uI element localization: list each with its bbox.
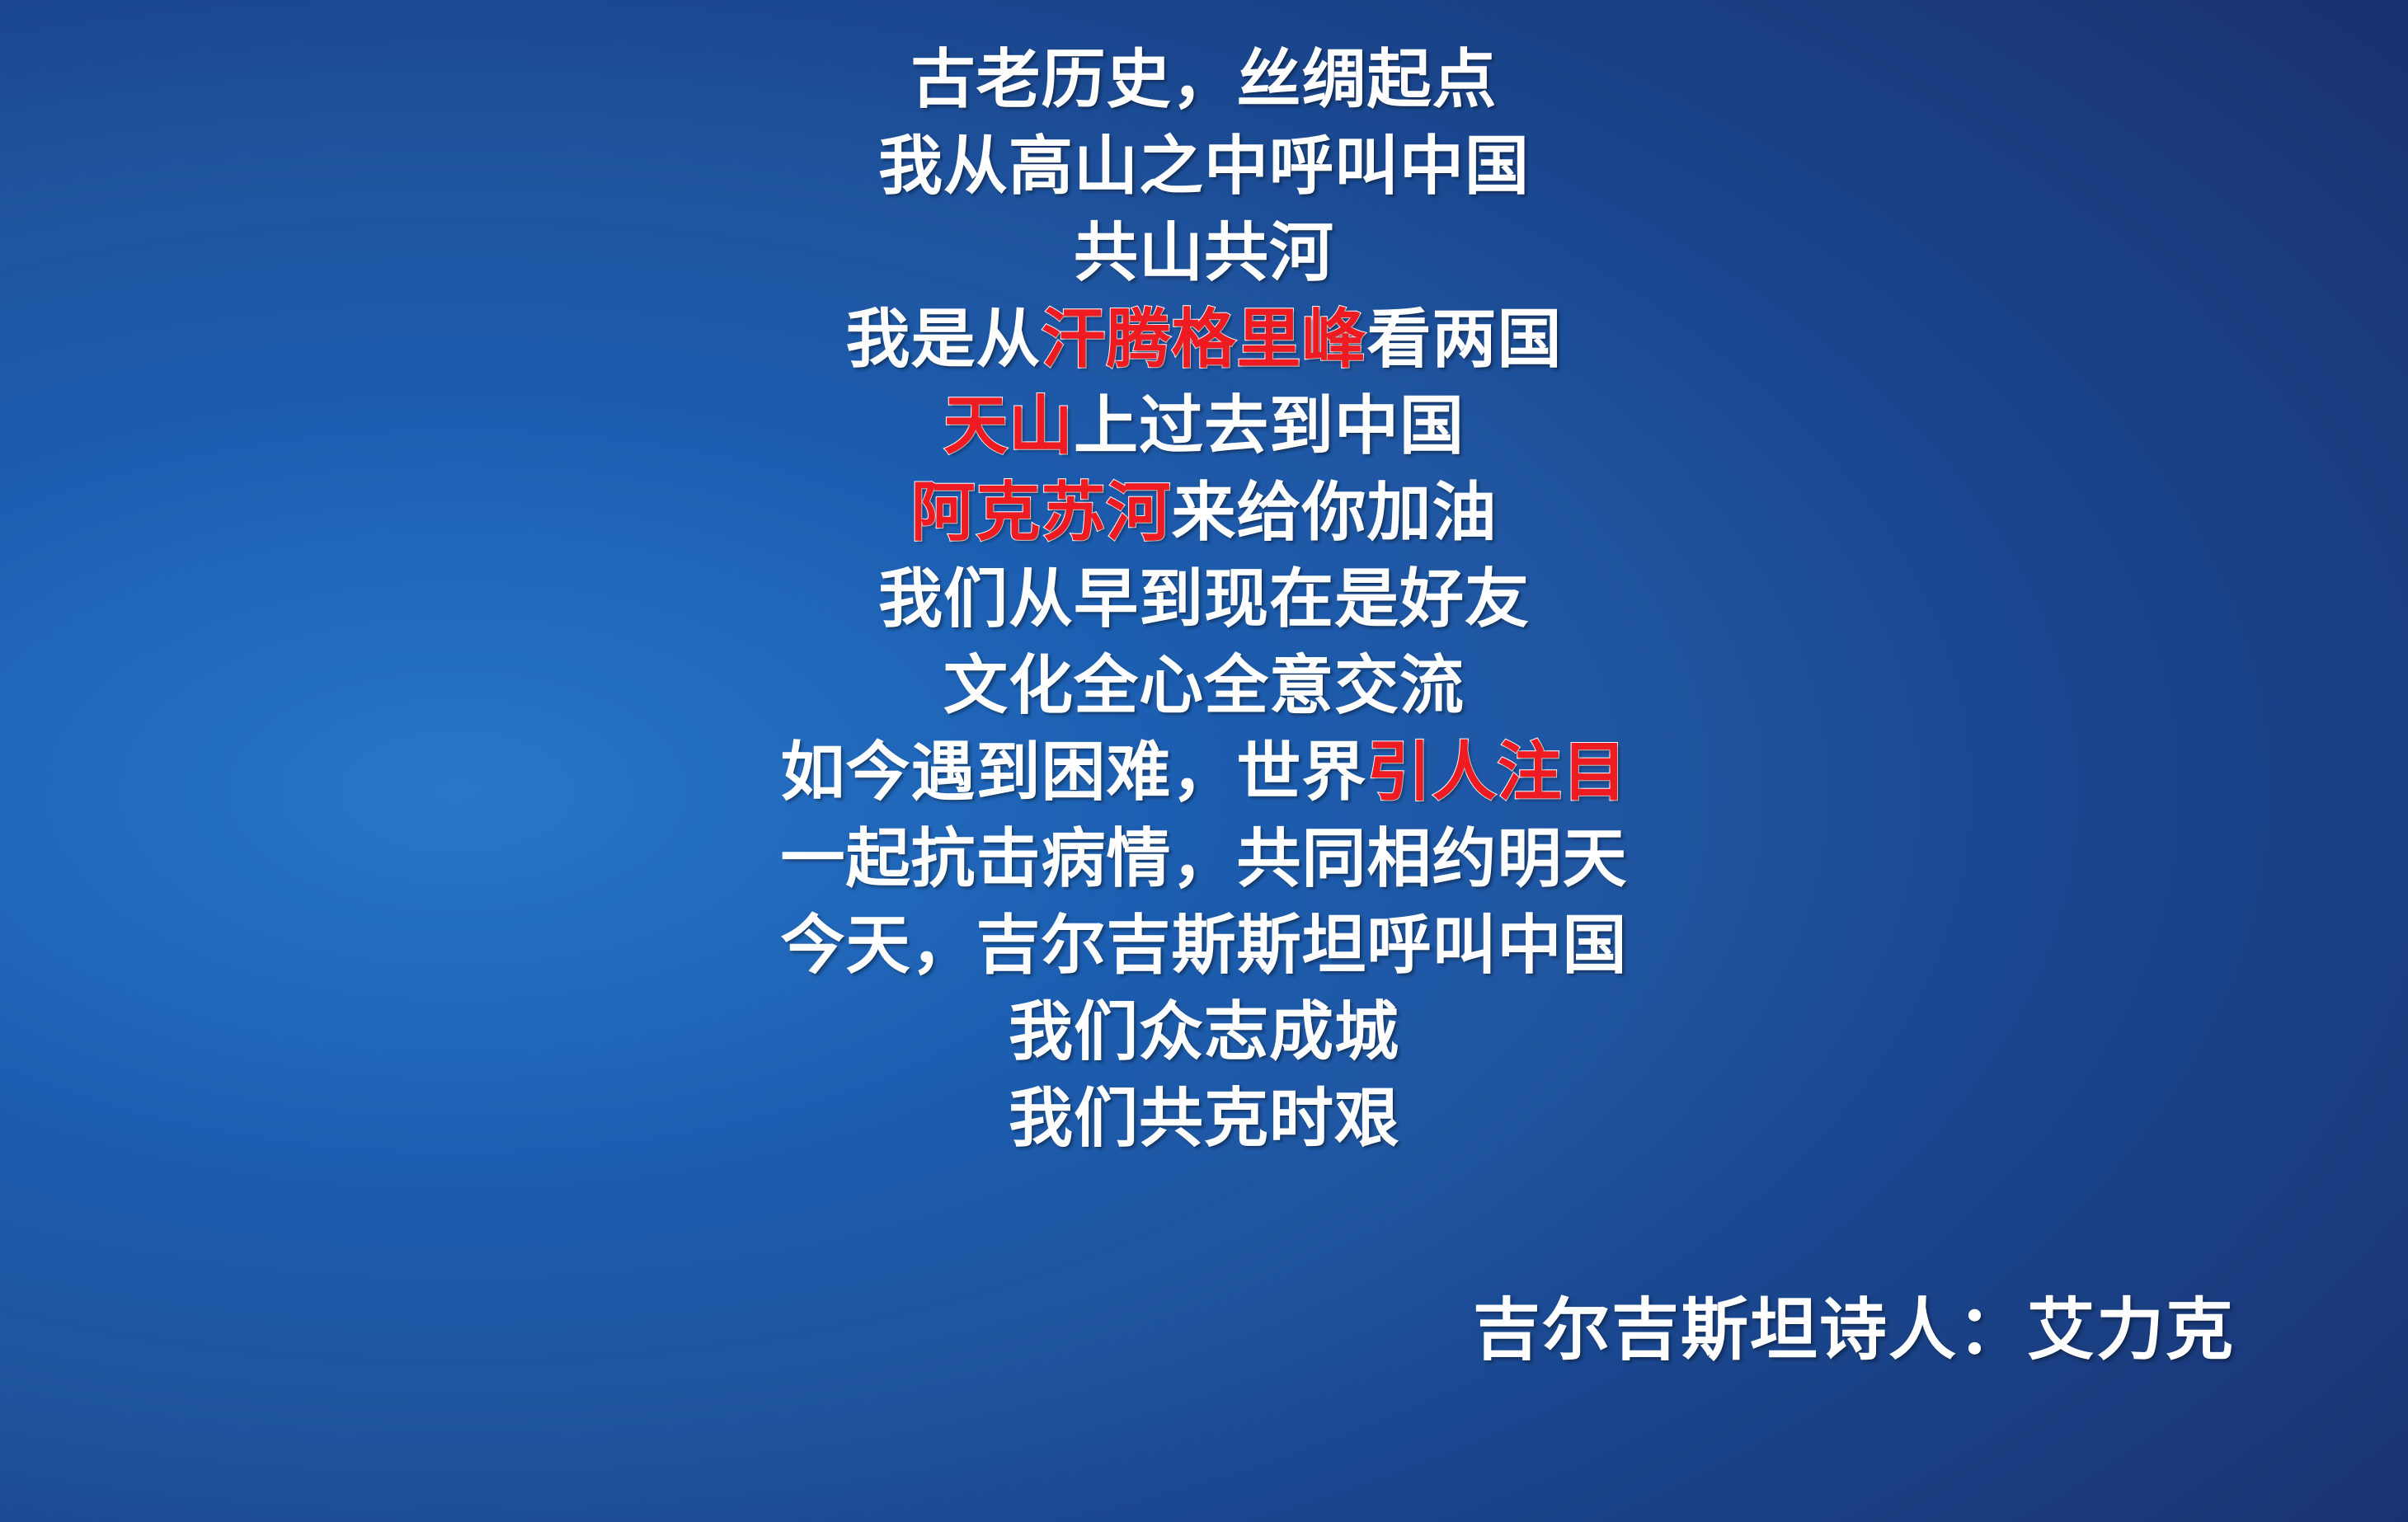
poem-text-run: 我从高山之中呼叫中国 [878,129,1530,204]
poem-line: 我从高山之中呼叫中国 [0,123,2408,209]
poem-highlight-term: 天山 [943,388,1074,463]
poem-text-run: 看两国 [1367,302,1563,377]
poem-highlight-term: 阿克苏河 [910,475,1171,550]
poem-text-run: 来给你加油 [1172,475,1498,550]
poem-text-run: 文化全心全意交流 [943,648,1465,723]
poem-text-run: 一起抗击病情，共同相约明天 [780,821,1627,896]
poem-text-run: 我们共克时艰 [1009,1081,1399,1156]
poem-body: 古老历史，丝绸起点我从高山之中呼叫中国共山共河我是从汗腾格里峰看两国天山上过去到… [0,36,2408,1162]
poem-text-run: 上过去到中国 [1074,388,1465,463]
poem-line: 今天，吉尔吉斯斯坦呼叫中国 [0,902,2408,989]
poem-line: 天山上过去到中国 [0,383,2408,469]
poem-line: 共山共河 [0,209,2408,296]
poem-line: 文化全心全意交流 [0,642,2408,729]
poem-text-run: 我们众志成城 [1009,994,1399,1069]
poem-signature: 吉尔吉斯坦诗人：艾力克 [0,1285,2235,1375]
poem-line: 阿克苏河来给你加油 [0,469,2408,556]
poem-line: 我们共克时艰 [0,1075,2408,1162]
poem-highlight-term: 汗腾格里峰 [1041,302,1366,377]
poem-line: 一起抗击病情，共同相约明天 [0,815,2408,902]
poem-text-run: 古老历史，丝绸起点 [910,42,1497,117]
poem-text-run: 如今遇到困难，世界 [780,735,1366,810]
poem-highlight-term: 引人注目 [1367,735,1628,810]
poem-line: 我是从汗腾格里峰看两国 [0,296,2408,383]
poem-slide: 古老历史，丝绸起点我从高山之中呼叫中国共山共河我是从汗腾格里峰看两国天山上过去到… [0,0,2408,1522]
poem-text-run: 我是从 [845,302,1041,377]
poem-line: 古老历史，丝绸起点 [0,36,2408,123]
poem-text-run: 共山共河 [1074,215,1334,290]
signature-text: 吉尔吉斯坦诗人：艾力克 [1473,1285,2235,1375]
poem-line: 如今遇到困难，世界引人注目 [0,729,2408,815]
poem-line: 我们从早到现在是好友 [0,556,2408,642]
poem-text-run: 今天，吉尔吉斯斯坦呼叫中国 [780,908,1627,983]
poem-text-run: 我们从早到现在是好友 [878,561,1530,637]
poem-line: 我们众志成城 [0,989,2408,1075]
